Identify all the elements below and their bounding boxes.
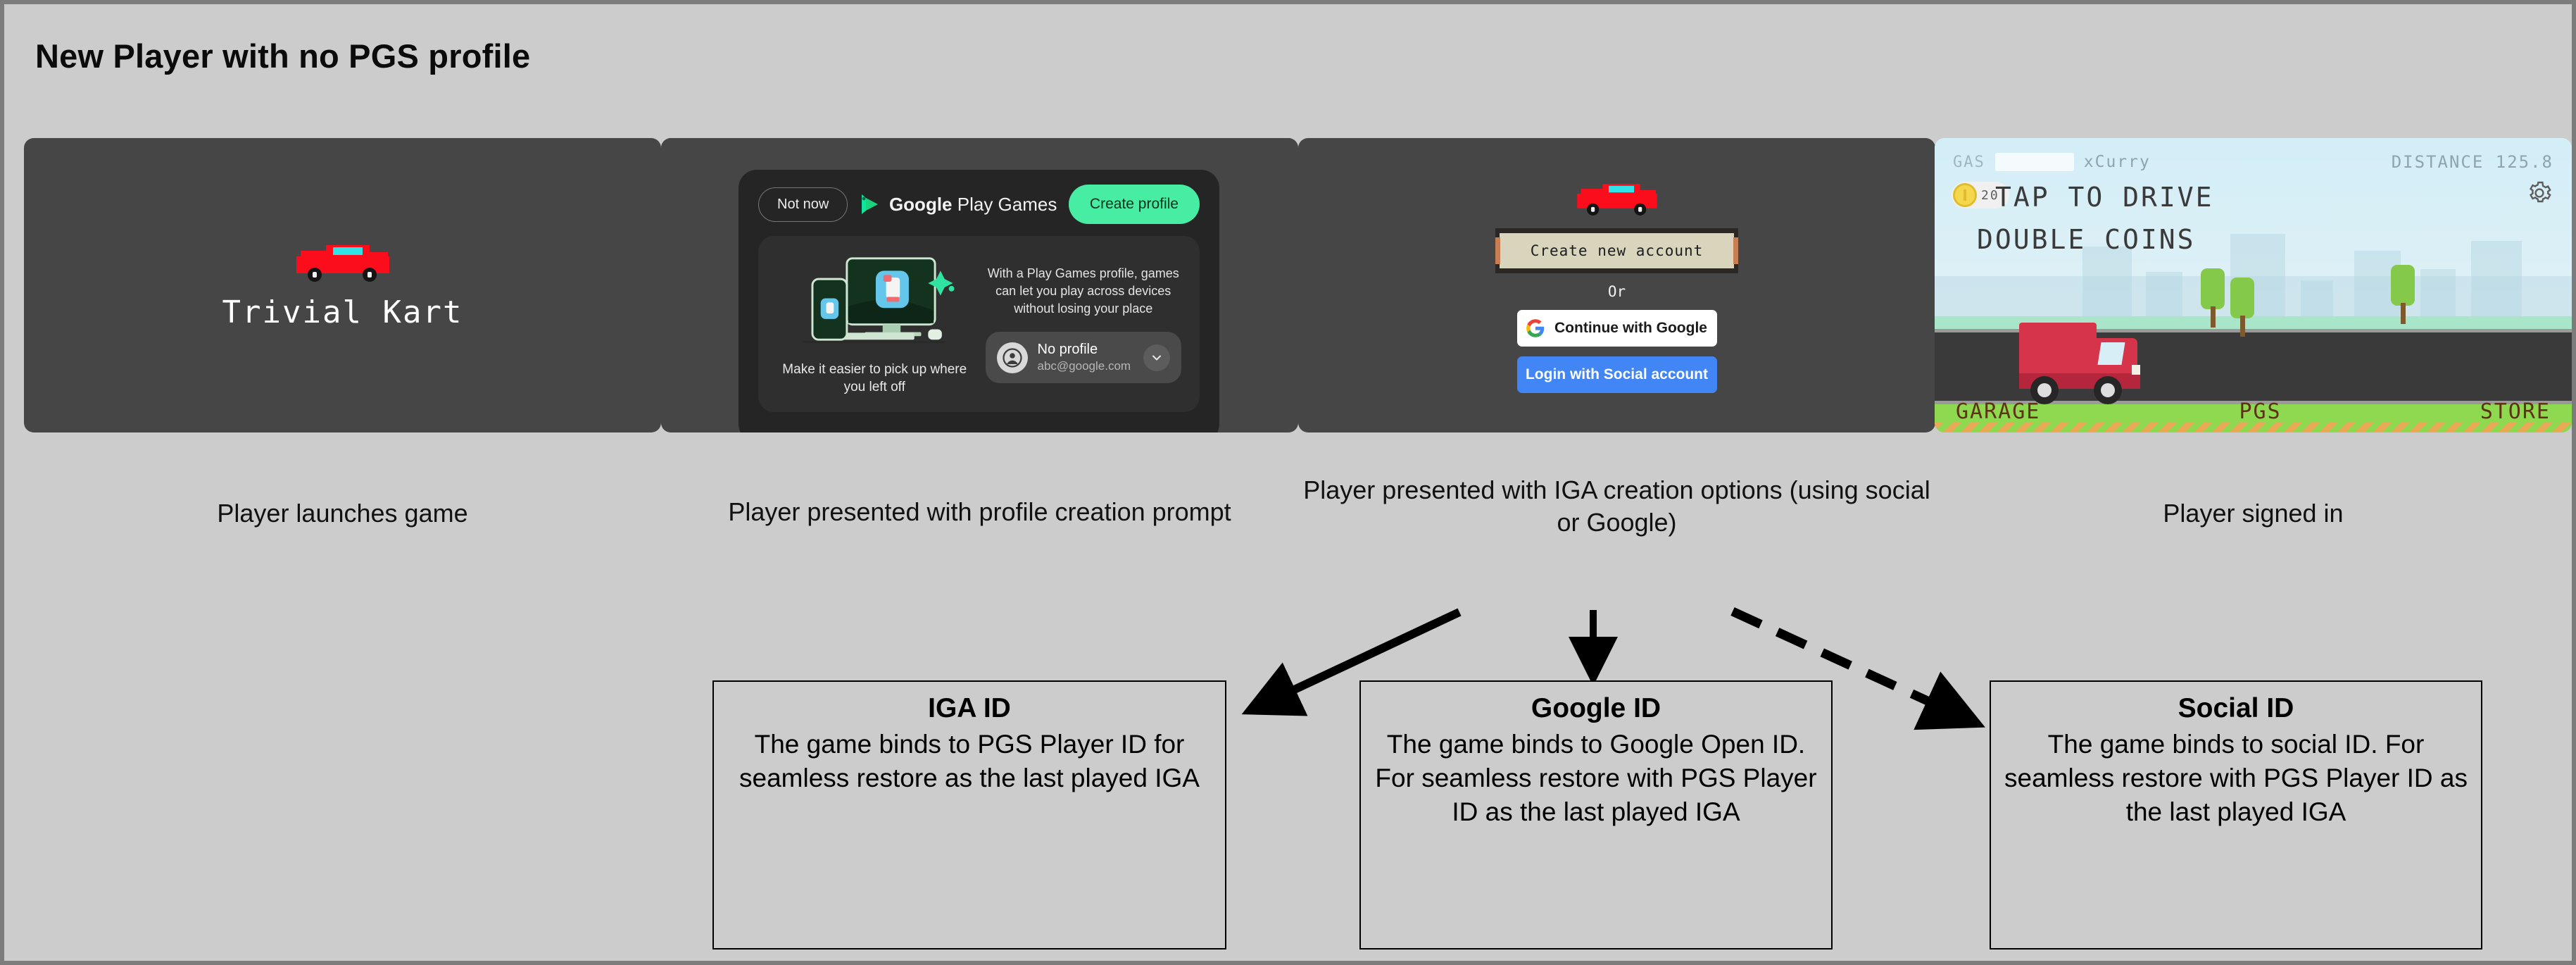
panel-caption-profile-prompt: Player presented with profile creation p… <box>661 496 1298 528</box>
screenshot-panel-iga-options: Create new account Or Continue with Goog… <box>1298 138 1935 432</box>
diagram-canvas: New Player with no PGS profile Trivial K… <box>0 0 2576 965</box>
create-new-account-button[interactable]: Create new account <box>1495 228 1739 273</box>
outcome-description: The game binds to social ID. For seamles… <box>2004 728 2468 829</box>
cross-device-illustration-icon <box>791 251 957 355</box>
screenshot-panel-splash: Trivial Kart <box>24 138 661 432</box>
continue-with-google-button[interactable]: Continue with Google <box>1517 310 1717 347</box>
gas-label: GAS <box>1953 154 1985 171</box>
illustration-caption: Make it easier to pick up where you left… <box>777 361 973 397</box>
pixel-car-icon <box>295 241 391 282</box>
tree-icon <box>2391 265 2415 324</box>
gas-meter-group: GAS xCurry <box>1953 153 2151 171</box>
profile-chip-texts: No profile abc@google.com <box>1038 342 1134 373</box>
iga-options-screen: Create new account Or Continue with Goog… <box>1298 138 1935 432</box>
tree-icon <box>2230 278 2254 337</box>
player-name: xCurry <box>2084 153 2151 171</box>
profile-email: abc@google.com <box>1038 359 1134 373</box>
page-title: New Player with no PGS profile <box>35 37 530 75</box>
tap-to-drive-line-2: DOUBLE COINS <box>1977 224 2196 255</box>
google-g-icon <box>1526 319 1545 337</box>
outcome-box-iga-id: IGA ID The game binds to PGS Player ID f… <box>712 680 1226 950</box>
outcome-box-social-id: Social ID The game binds to social ID. F… <box>1990 680 2482 950</box>
person-circle-icon <box>1002 347 1023 368</box>
outcome-title: Social ID <box>2004 692 2468 726</box>
or-separator-label: Or <box>1608 283 1626 300</box>
tree-icon <box>2201 268 2225 328</box>
profile-title: No profile <box>1038 342 1134 358</box>
game-screen: GAS xCurry DISTANCE 125.8 20 TAP TO DRIV… <box>1935 138 2572 432</box>
gas-bar <box>1995 153 2074 171</box>
brand-bold: Google <box>889 194 953 215</box>
screenshot-panel-profile-prompt: Not now Google Play Games Create profile <box>661 138 1298 432</box>
pixel-car-icon <box>1576 180 1658 216</box>
panel-caption-iga-options: Player presented with IGA creation optio… <box>1298 474 1935 539</box>
game-hud-top: GAS xCurry DISTANCE 125.8 <box>1953 152 2553 172</box>
panel-caption-signed-in: Player signed in <box>1935 497 2572 530</box>
outcome-description: The game binds to PGS Player ID for seam… <box>727 728 1212 795</box>
not-now-button[interactable]: Not now <box>758 187 848 222</box>
play-games-logo-icon <box>860 193 881 216</box>
chevron-down-icon[interactable] <box>1143 344 1170 371</box>
login-with-social-button[interactable]: Login with Social account <box>1517 356 1717 393</box>
profile-selector-chip[interactable]: No profile abc@google.com <box>986 332 1182 383</box>
outcome-description: The game binds to Google Open ID. For se… <box>1374 728 1818 829</box>
outcome-title: IGA ID <box>727 692 1212 726</box>
brand-rest: Play Games <box>953 194 1057 215</box>
pgs-dialog: Not now Google Play Games Create profile <box>739 170 1219 432</box>
pgs-dialog-body: Make it easier to pick up where you left… <box>758 236 1200 412</box>
pgs-description: With a Play Games profile, games can let… <box>986 265 1182 318</box>
distance-readout: DISTANCE 125.8 <box>2392 152 2553 172</box>
outcome-box-google-id: Google ID The game binds to Google Open … <box>1359 680 1833 950</box>
screenshot-panel-in-game: GAS xCurry DISTANCE 125.8 20 TAP TO DRIV… <box>1935 138 2572 432</box>
continue-with-google-label: Continue with Google <box>1554 320 1707 337</box>
nav-garage[interactable]: GARAGE <box>1956 399 2040 424</box>
game-title: Trivial Kart <box>222 294 463 330</box>
game-bottom-nav: GARAGE PGS STORE <box>1935 390 2572 432</box>
gear-icon[interactable] <box>2527 180 2552 206</box>
create-profile-button[interactable]: Create profile <box>1069 185 1200 224</box>
tap-to-drive-line-1: TAP TO DRIVE <box>1995 182 2214 213</box>
pgs-illustration-column: Make it easier to pick up where you left… <box>777 251 973 397</box>
pgs-panel-backdrop: Not now Google Play Games Create profile <box>661 138 1298 432</box>
pgs-dialog-topbar: Not now Google Play Games Create profile <box>758 181 1200 228</box>
google-play-games-brand: Google Play Games <box>860 193 1057 216</box>
panel-caption-splash: Player launches game <box>24 497 661 530</box>
pgs-description-column: With a Play Games profile, games can let… <box>986 251 1182 397</box>
nav-store[interactable]: STORE <box>2480 399 2551 424</box>
coin-icon <box>1953 183 1977 207</box>
brand-text: Google Play Games <box>889 194 1057 216</box>
outcome-title: Google ID <box>1374 692 1818 726</box>
splash-screen: Trivial Kart <box>24 138 661 432</box>
account-avatar-icon <box>997 342 1028 373</box>
nav-pgs[interactable]: PGS <box>2239 399 2281 424</box>
